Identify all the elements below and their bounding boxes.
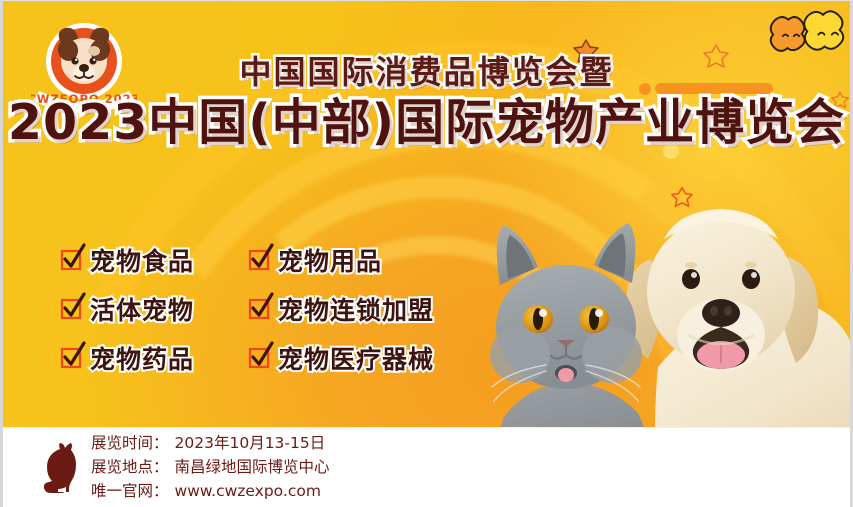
checklist-item-label: 宠物食品 bbox=[90, 242, 194, 278]
title-line-2: 2023中国(中部)国际宠物产业博览会 bbox=[3, 96, 850, 151]
checkbox-checked-icon[interactable] bbox=[61, 250, 81, 270]
checklist-item-label: 宠物药品 bbox=[90, 340, 194, 376]
info-website[interactable]: www.cwzexpo.com bbox=[175, 481, 321, 502]
blob-orange bbox=[771, 17, 805, 51]
info-colon: ： bbox=[153, 481, 169, 502]
info-key: 唯一官网 bbox=[91, 481, 153, 502]
checklist-item[interactable]: 宠物用品 bbox=[249, 235, 479, 284]
star-outline-icon bbox=[671, 186, 693, 208]
checkbox-checked-icon[interactable] bbox=[249, 348, 269, 368]
info-value: 2023年10月13-15日 bbox=[175, 433, 326, 454]
info-colon: ： bbox=[153, 457, 169, 478]
checklist-item[interactable]: 宠物连锁加盟 bbox=[249, 284, 479, 333]
blob-yellow bbox=[804, 11, 843, 49]
info-row: 展览时间 ： 2023年10月13-15日 bbox=[91, 433, 330, 454]
info-key: 展览地点 bbox=[91, 457, 153, 478]
info-row: 展览地点 ： 南昌绿地国际博览中心 bbox=[91, 457, 330, 478]
title-line-1: 中国国际消费品博览会暨 bbox=[3, 55, 850, 90]
checklist-item-label: 宠物连锁加盟 bbox=[278, 291, 434, 327]
info-value: 南昌绿地国际博览中心 bbox=[175, 457, 330, 478]
checkbox-checked-icon[interactable] bbox=[249, 250, 269, 270]
poster-title: 中国国际消费品博览会暨 2023中国(中部)国际宠物产业博览会 bbox=[3, 55, 850, 151]
expo-poster: CWZEOPO 2023 中国国际消费品博览会暨 2023中国(中部)国际宠物产… bbox=[0, 0, 853, 507]
category-checklist: 宠物食品 宠物用品 活体宠物 bbox=[61, 235, 479, 382]
info-colon: ： bbox=[153, 433, 169, 454]
checkbox-checked-icon[interactable] bbox=[249, 299, 269, 319]
checkbox-checked-icon[interactable] bbox=[61, 299, 81, 319]
info-lines: 展览时间 ： 2023年10月13-15日 展览地点 ： 南昌绿地国际博览中心 … bbox=[91, 433, 330, 502]
info-bar: 展览时间 ： 2023年10月13-15日 展览地点 ： 南昌绿地国际博览中心 … bbox=[3, 427, 850, 507]
checklist-item-label: 活体宠物 bbox=[90, 291, 194, 327]
checklist-item-label: 宠物医疗器械 bbox=[278, 340, 434, 376]
checklist-item[interactable]: 宠物药品 bbox=[61, 333, 249, 382]
sitting-cat-silhouette-icon bbox=[43, 443, 77, 493]
info-row: 唯一官网 ： www.cwzexpo.com bbox=[91, 481, 330, 502]
info-key: 展览时间 bbox=[91, 433, 153, 454]
checklist-item[interactable]: 宠物食品 bbox=[61, 235, 249, 284]
checklist-item-label: 宠物用品 bbox=[278, 242, 382, 278]
checkbox-checked-icon[interactable] bbox=[61, 348, 81, 368]
checklist-item[interactable]: 活体宠物 bbox=[61, 284, 249, 333]
checklist-item[interactable]: 宠物医疗器械 bbox=[249, 333, 479, 382]
